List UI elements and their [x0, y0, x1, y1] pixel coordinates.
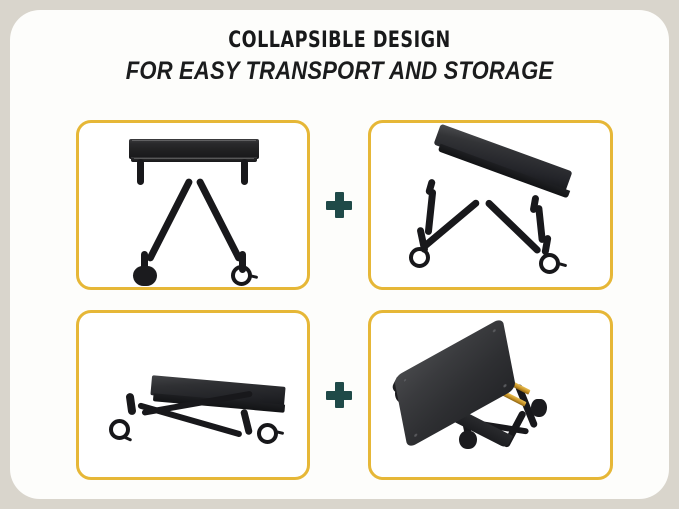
corner-bolt-br — [503, 383, 507, 388]
illustration-folded-frame-upright — [79, 123, 307, 287]
caster-stem-left — [123, 435, 132, 441]
caster-ring-right — [257, 423, 278, 444]
caster-ring-left — [409, 247, 430, 268]
corner-bolt-bl — [414, 433, 418, 438]
plus-icon — [326, 382, 352, 408]
arm-tail-right — [240, 409, 253, 436]
panel-stage-flattened — [76, 310, 310, 480]
top-bar-underside — [131, 157, 257, 162]
caster-solid-left — [133, 266, 157, 286]
corner-bolt-tr — [492, 328, 496, 333]
caster-front — [459, 431, 477, 449]
leg-upright-right — [241, 159, 248, 185]
caster-rear-right — [531, 399, 547, 417]
content-card: COLLAPSIBLE DESIGN FOR EASY TRANSPORT AN… — [10, 10, 669, 499]
leg-upright-left — [137, 159, 144, 185]
illustration-collapsed-platform — [371, 313, 610, 477]
panel-stage-tilting — [368, 120, 613, 290]
arm-left — [425, 189, 437, 235]
infographic-canvas: COLLAPSIBLE DESIGN FOR EASY TRANSPORT AN… — [0, 0, 679, 509]
leg-diagonal-b — [195, 177, 243, 262]
pivot-block — [126, 393, 137, 416]
corner-bolt-tl — [403, 378, 407, 383]
panel-stage-upright — [76, 120, 310, 290]
page-title: COLLAPSIBLE DESIGN — [76, 28, 603, 54]
leg-diagonal-a — [146, 177, 194, 262]
page-subtitle: FOR EASY TRANSPORT AND STORAGE — [50, 56, 630, 86]
plus-icon — [326, 192, 352, 218]
illustration-frame-flattened — [79, 313, 307, 477]
top-bar — [129, 139, 259, 159]
tilted-top-bar — [433, 124, 572, 193]
panel-stage-collapsed — [368, 310, 613, 480]
illustration-frame-collapsing — [371, 123, 610, 287]
header: COLLAPSIBLE DESIGN FOR EASY TRANSPORT AN… — [10, 28, 669, 86]
